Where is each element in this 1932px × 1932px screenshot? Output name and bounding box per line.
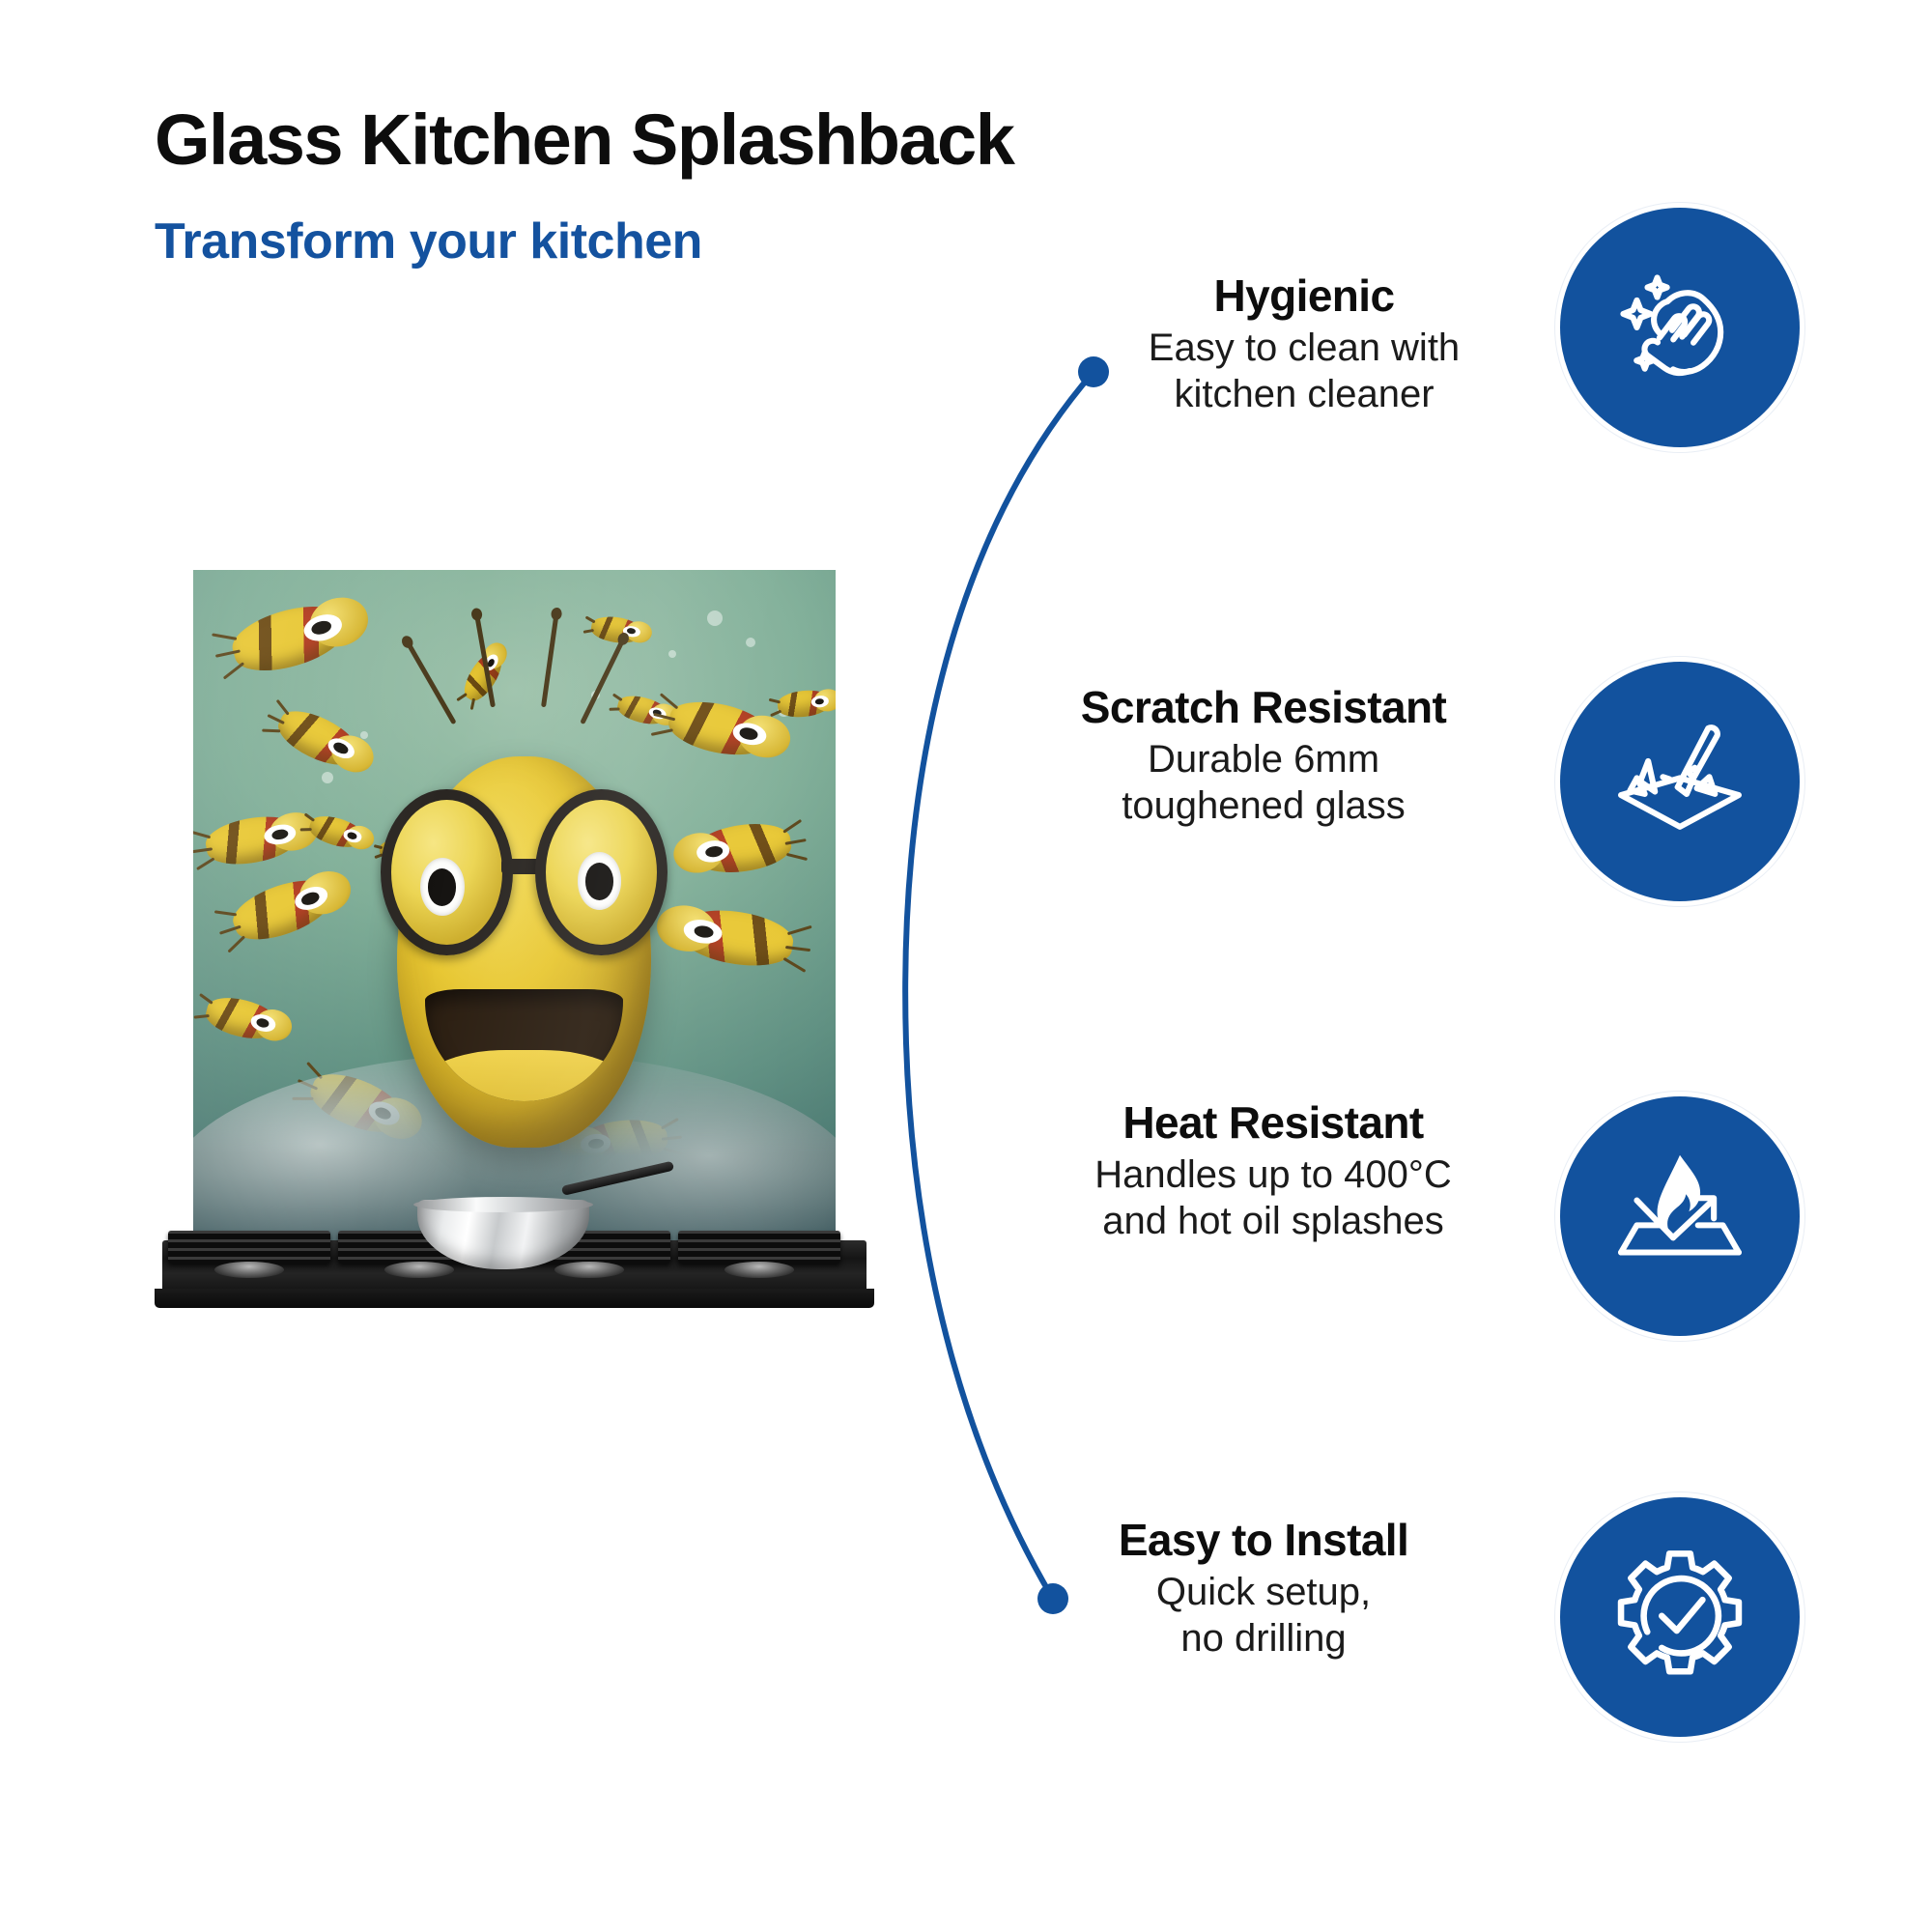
bee-small	[306, 811, 366, 852]
bee-small	[590, 613, 643, 645]
bee-small	[692, 818, 794, 877]
feature-title: Hygienic	[1101, 272, 1507, 321]
bee-small	[303, 1065, 409, 1143]
feature-icon-badge	[1560, 662, 1800, 901]
bee-small	[577, 1116, 669, 1167]
hand-wipe-sparkle-icon	[1607, 255, 1752, 400]
frying-pan	[417, 1200, 620, 1283]
feature-description: Durable 6mm toughened glass	[1022, 736, 1505, 831]
bee-small	[272, 701, 365, 774]
bee-small	[665, 695, 773, 763]
feature-description: Quick setup, no drilling	[1022, 1569, 1505, 1663]
infographic-canvas: Glass Kitchen Splashback Transform your …	[0, 0, 1932, 1932]
bee-small	[615, 692, 670, 728]
bee-small	[379, 838, 418, 862]
feature-title: Heat Resistant	[1022, 1099, 1524, 1148]
bee-character	[386, 731, 663, 1148]
page-title: Glass Kitchen Splashback	[155, 104, 1013, 176]
product-image	[155, 570, 874, 1314]
goggles-icon	[381, 789, 668, 955]
bee-small	[678, 904, 797, 973]
feature-description: Easy to clean with kitchen cleaner	[1101, 325, 1507, 419]
feature-icon-badge	[1560, 208, 1800, 447]
splashback-glass-panel	[193, 570, 836, 1241]
feature-title: Easy to Install	[1022, 1517, 1505, 1565]
feature-description: Handles up to 400°C and hot oil splashes	[1022, 1151, 1524, 1246]
feature-icon-badge	[1560, 1096, 1800, 1336]
bee-small	[226, 869, 337, 950]
bee-small	[203, 810, 302, 870]
page-subtitle: Transform your kitchen	[155, 216, 702, 267]
gear-check-icon	[1607, 1545, 1752, 1690]
bee-small	[458, 648, 508, 706]
blade-scratch-surface-icon	[1607, 709, 1752, 854]
feature-title: Scratch Resistant	[1022, 684, 1505, 732]
flame-deflect-icon	[1607, 1144, 1752, 1289]
feature-icon-badge	[1560, 1497, 1800, 1737]
bee-small	[226, 596, 351, 681]
bee-small	[777, 688, 832, 719]
bee-small	[203, 991, 281, 1044]
